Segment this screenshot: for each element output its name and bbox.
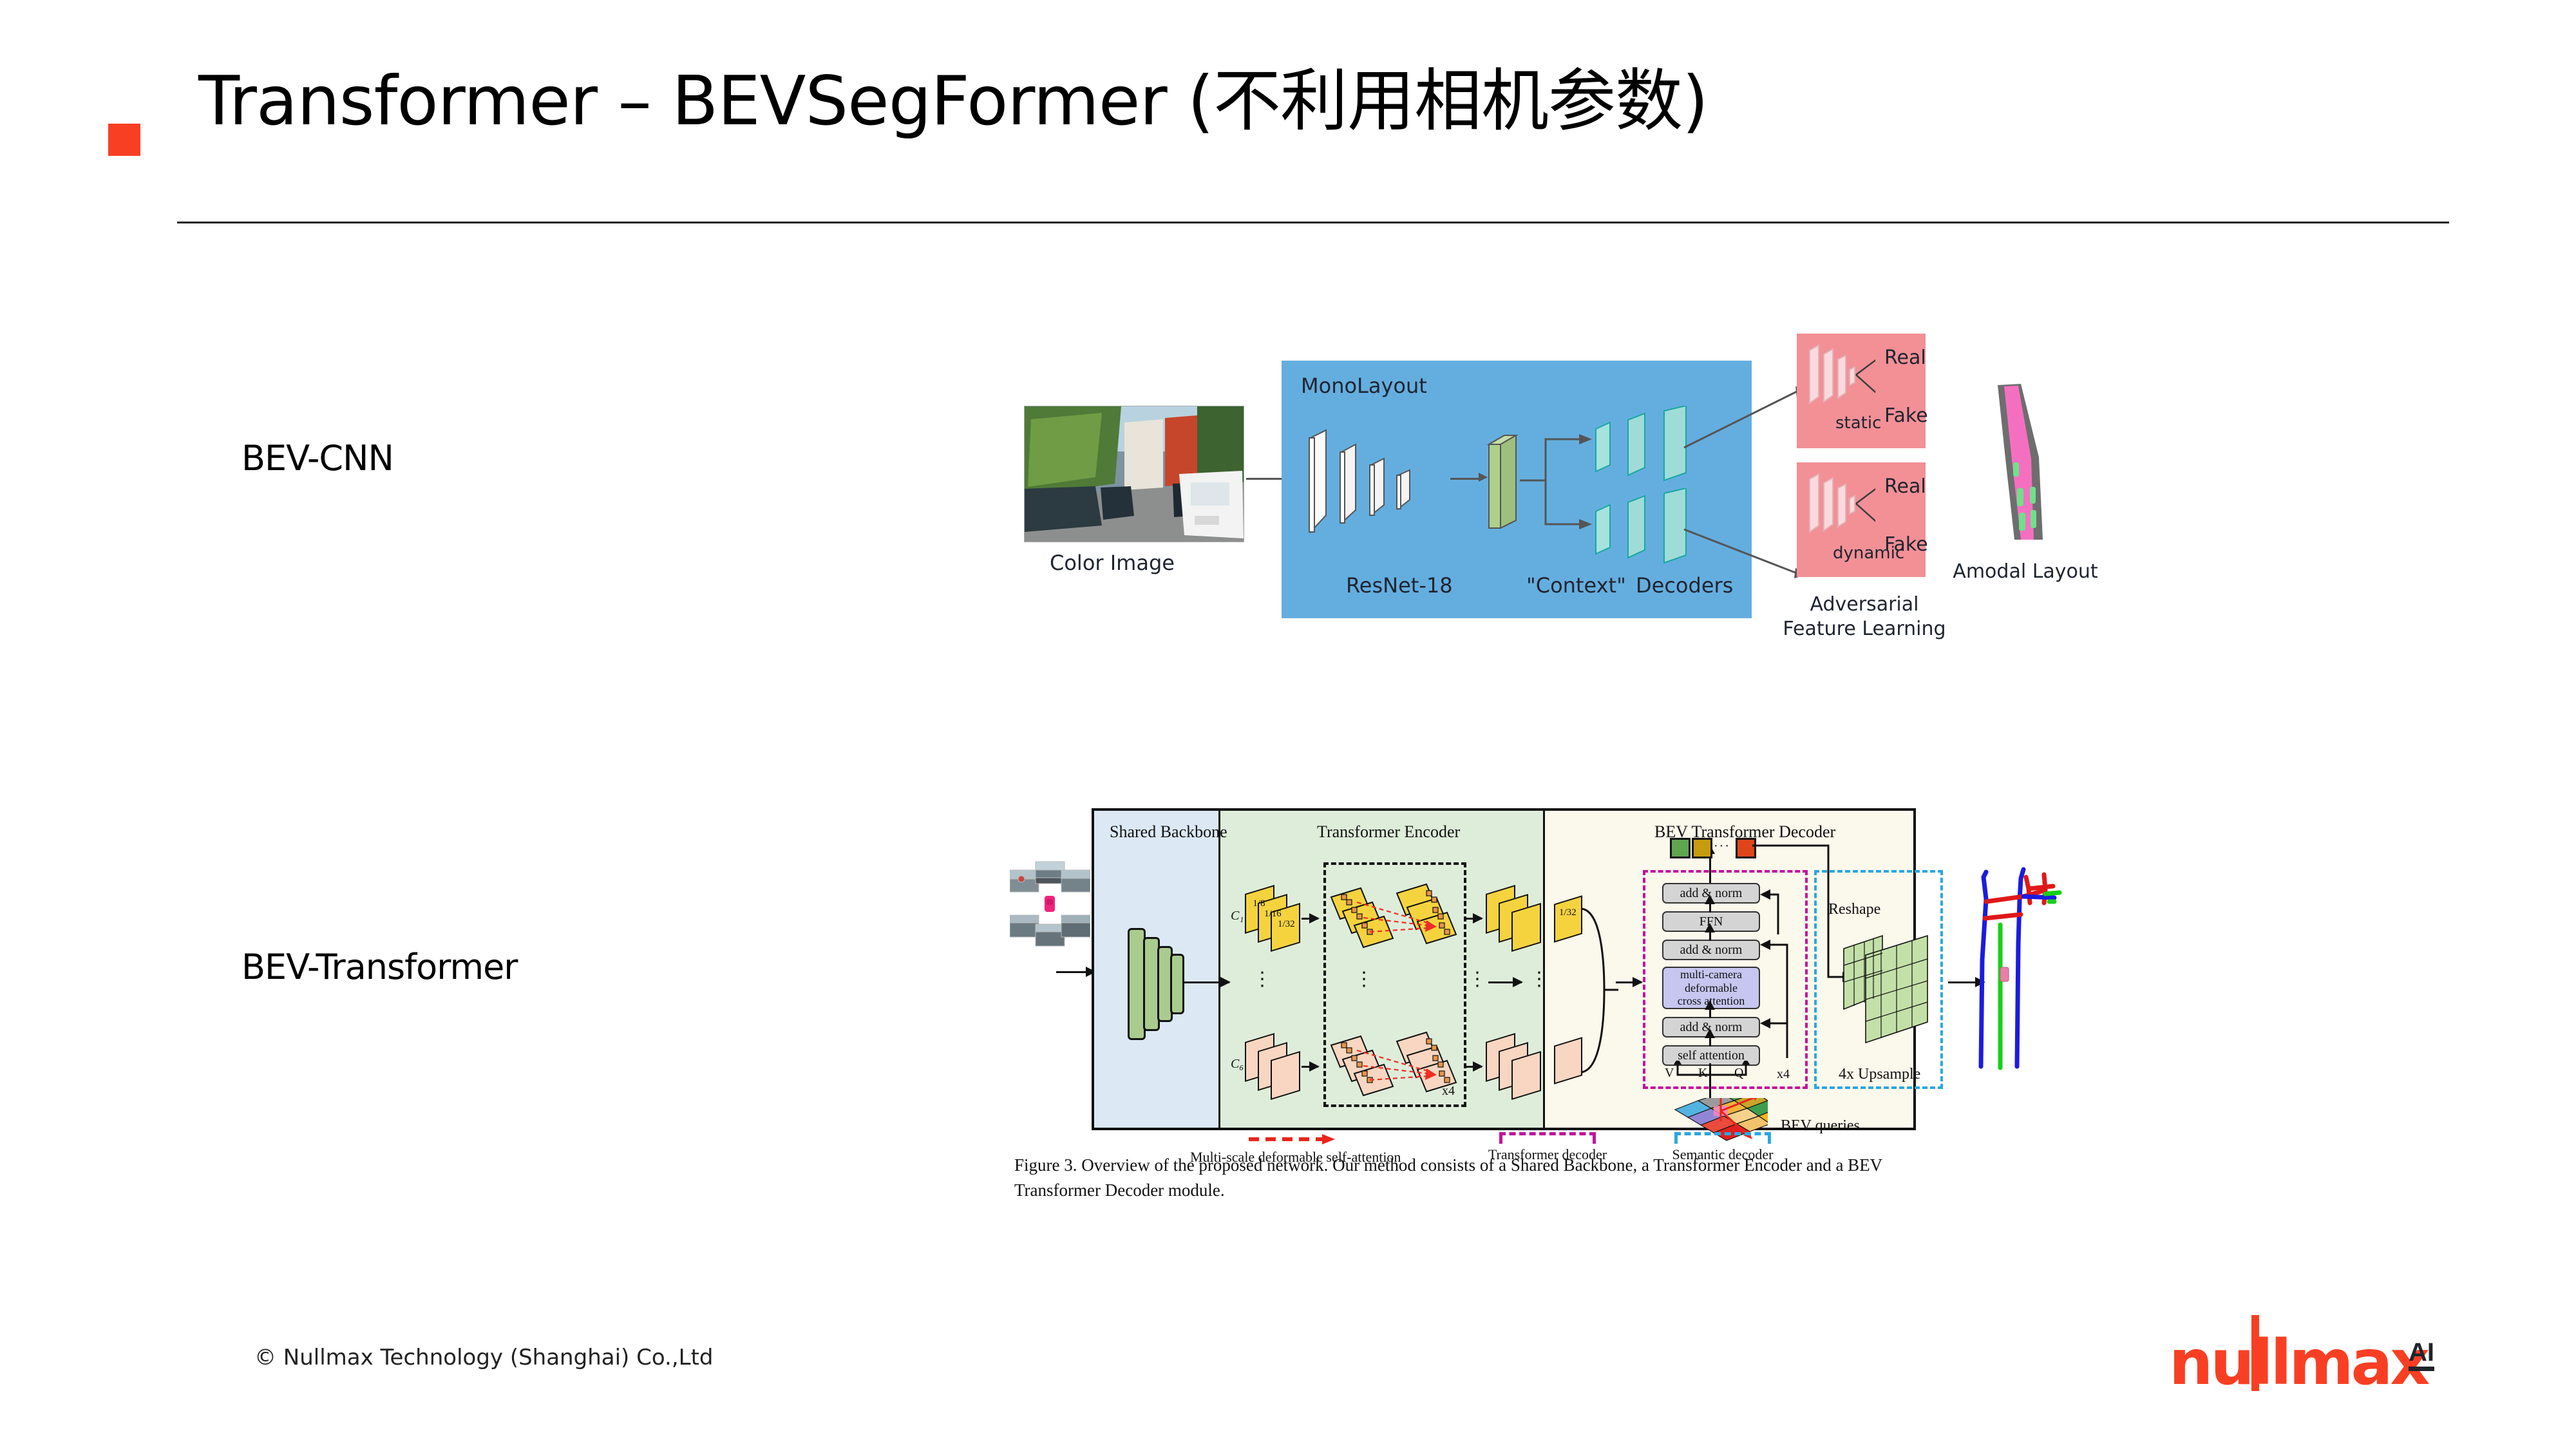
reshape-label: Reshape (1828, 901, 1880, 918)
arrow-image-to-backbone (1246, 478, 1286, 480)
surround-camera-inputs (1010, 853, 1090, 976)
qkv-routing-lines (1661, 1061, 1790, 1084)
discriminator-dynamic-layers (1804, 470, 1875, 551)
context-label: "Context" (1526, 573, 1626, 598)
arrow-ffn-to-addnorm3 (1709, 904, 1711, 913)
cross-attention-line-2: deformable (1685, 981, 1738, 995)
legend-swatch-semantic-decoder (1674, 1132, 1771, 1144)
figure-bevsegformer: Shared Backbone Transformer Encoder BEV … (940, 792, 2164, 1269)
scale-label-8: 1/8 (1253, 898, 1265, 909)
bev-grid-maps (1842, 932, 1946, 1051)
adversarial-feature-learning-label: Adversarial Feature Learning (1771, 592, 1958, 641)
token-ellipsis: ··· (1714, 839, 1730, 854)
scale-label-16: 1/16 (1264, 909, 1280, 920)
title-divider (177, 222, 2449, 223)
decoder-input-brace (1578, 901, 1624, 1084)
arrow-backbone-to-context (1450, 478, 1481, 480)
footer-copyright: © Nullmax Technology (Shanghai) Co.,Ltd (254, 1345, 714, 1370)
bevsegformer-frame: Shared Backbone Transformer Encoder BEV … (1092, 808, 1916, 1130)
amodal-layout-output (1984, 380, 2061, 541)
arrow-c6-to-attention (1302, 1066, 1318, 1068)
cross-attention-line-1: multi-camera (1680, 968, 1742, 981)
monolayout-panel-title: MonoLayout (1301, 374, 1427, 398)
camera-label-c6: C₆ (1231, 1057, 1244, 1072)
row-label-bev-cnn: BEV-CNN (241, 438, 393, 478)
row-label-bev-transformer: BEV-Transformer (241, 947, 518, 987)
discriminator-dynamic-real: Real (1884, 475, 1926, 498)
arrow-attention-to-out-c1 (1465, 918, 1482, 920)
input-image-caption: Color Image (1050, 551, 1175, 575)
discriminator-static-fake: Fake (1884, 404, 1928, 427)
column-title-transformer-encoder: Transformer Encoder (1317, 822, 1460, 842)
logo-bar-icon (2251, 1315, 2259, 1391)
camera-label-c1: C₁ (1231, 909, 1244, 923)
discriminator-static-real: Real (1884, 346, 1926, 369)
column-title-shared-backbone: Shared Backbone (1110, 822, 1227, 842)
legend-swatch-transformer-decoder (1499, 1132, 1596, 1144)
arrow-into-decoder (1616, 981, 1642, 983)
decoder-block-add-norm-2: add & norm (1662, 940, 1760, 960)
backbone-block-4 (1170, 954, 1184, 1014)
page-title: Transformer – BEVSegFormer (不利用相机参数) (198, 68, 1708, 135)
logo-wordmark: nullmax (2169, 1332, 2427, 1394)
arrow-cameras-to-backbone (1056, 971, 1095, 973)
token-swatch-green (1670, 838, 1690, 858)
bev-lane-output (1964, 863, 2080, 1079)
input-color-image (1024, 406, 1244, 542)
resnet-encoder-blocks (1304, 419, 1452, 551)
decoder-scale-label: 1/32 (1559, 907, 1575, 918)
figure-monolayout: Color Image MonoLayout ResNet-18 (953, 309, 2112, 708)
arrow-encoder-dots (1488, 981, 1522, 983)
deformable-attention-peach (1330, 1031, 1459, 1102)
scale-label-32: 1/32 (1278, 919, 1293, 930)
arrow-addnorm2-to-ffn (1709, 932, 1711, 941)
arrow-crossattn-to-addnorm2 (1709, 1009, 1711, 1018)
amodal-layout-caption: Amodal Layout (1945, 560, 2106, 583)
discriminator-static-layers (1804, 341, 1875, 422)
arrow-addnorm1-to-crossattn (1709, 1037, 1711, 1046)
logo-ai-suffix: AI (2409, 1340, 2434, 1371)
nullmax-logo: nullmax AI (2169, 1332, 2427, 1394)
deformable-attention-yellow (1330, 883, 1459, 954)
title-bullet-icon (108, 124, 140, 156)
arrow-backbone-to-encoder (1184, 981, 1229, 983)
upsample-label: 4x Upsample (1839, 1066, 1920, 1083)
arrow-attention-to-out-c6 (1465, 1066, 1482, 1068)
token-swatch-gold (1692, 838, 1712, 858)
discriminator-dynamic-kind: dynamic (1833, 544, 1904, 563)
arrow-c1-to-attention (1302, 918, 1318, 920)
resnet-label: ResNet-18 (1346, 573, 1453, 598)
discriminator-static-kind: static (1835, 413, 1881, 433)
decoder-repeat-label: x4 (1777, 1067, 1790, 1082)
figure-caption: Figure 3. Overview of the proposed netwo… (1014, 1153, 1929, 1203)
